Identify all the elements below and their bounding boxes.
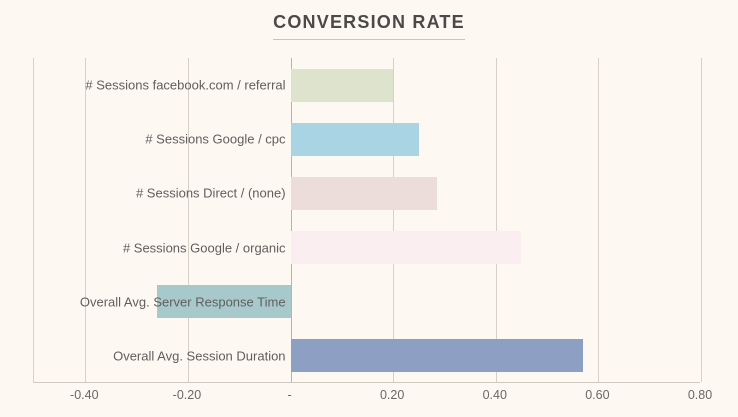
x-tick-label: 0.20: [380, 388, 404, 402]
category-label: Overall Avg. Session Duration: [113, 349, 285, 362]
category-label: # Sessions Google / organic: [123, 241, 286, 254]
bar-0[interactable]: [291, 69, 394, 102]
bar-row: [34, 123, 700, 156]
category-label: # Sessions facebook.com / referral: [85, 79, 285, 92]
bar-2[interactable]: [291, 177, 437, 210]
bar-series: [34, 58, 700, 382]
gridline-0.80: [701, 58, 702, 382]
x-tick-label: -: [287, 388, 291, 402]
x-tick-label: 0.40: [483, 388, 507, 402]
x-tick-label: 0.80: [688, 388, 712, 402]
x-tick-label: -0.20: [173, 388, 202, 402]
bar-3[interactable]: [291, 231, 522, 264]
category-label: # Sessions Google / cpc: [145, 133, 285, 146]
x-tick-label: -0.40: [70, 388, 99, 402]
conversion-rate-chart: CONVERSION RATE -0.40-0.20-0.200.400.600…: [0, 0, 738, 417]
category-label: # Sessions Direct / (none): [136, 187, 286, 200]
bar-1[interactable]: [291, 123, 419, 156]
page-title: CONVERSION RATE: [273, 12, 465, 40]
x-tick-label: 0.60: [585, 388, 609, 402]
category-label: Overall Avg. Server Response Time: [80, 295, 286, 308]
x-axis-tick-labels: -0.40-0.20-0.200.400.600.80: [33, 386, 700, 410]
chart-title-container: CONVERSION RATE: [0, 12, 738, 40]
bar-5[interactable]: [291, 339, 583, 372]
plot-area: [33, 58, 700, 383]
bar-row: [34, 177, 700, 210]
